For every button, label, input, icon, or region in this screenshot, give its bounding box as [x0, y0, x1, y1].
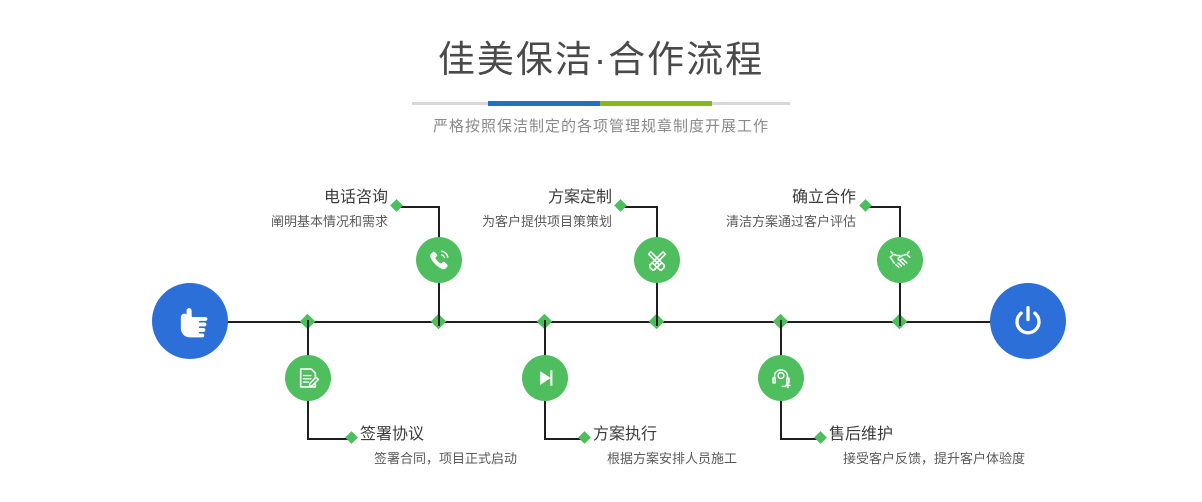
step-title-2: 签署协议 [360, 425, 610, 445]
label-marker-5 [859, 199, 872, 212]
step-node-5[interactable] [877, 237, 923, 283]
step-title-6: 售后维护 [829, 425, 1089, 445]
timeline-start-node[interactable] [152, 283, 228, 359]
pencil-ruler-icon [644, 247, 670, 273]
handshake-icon [887, 247, 913, 273]
step-desc-5: 清洁方案通过客户评估 [620, 213, 856, 231]
step-label-1: 电话咨询 阐明基本情况和需求 [150, 188, 388, 231]
customer-service-add-icon [768, 365, 794, 391]
timeline-axis [160, 321, 1042, 323]
step-title-4: 方案执行 [593, 425, 843, 445]
label-marker-2 [345, 431, 358, 444]
pointing-hand-icon [168, 299, 212, 343]
step-node-4[interactable] [522, 355, 568, 401]
step-title-3: 方案定制 [375, 188, 612, 208]
step-desc-3: 为客户提供项目策策划 [375, 213, 612, 231]
step-node-3[interactable] [634, 237, 680, 283]
connector-horizontal-2 [307, 438, 351, 440]
step-label-2: 签署协议 签署合同，项目正式启动 [360, 425, 610, 468]
process-timeline: 电话咨询 阐明基本情况和需求 签署协议 签署合同，项目正式启动 [0, 0, 1202, 502]
step-title-5: 确立合作 [620, 188, 856, 208]
step-label-4: 方案执行 根据方案安排人员施工 [593, 425, 843, 468]
power-icon [1006, 299, 1050, 343]
step-desc-4: 根据方案安排人员施工 [607, 450, 843, 468]
flow-diagram-page: 佳美保洁·合作流程 严格按照保洁制定的各项管理规章制度开展工作 [0, 0, 1202, 502]
phone-call-icon [426, 247, 452, 273]
play-execute-icon [532, 365, 558, 391]
step-label-6: 售后维护 接受客户反馈，提升客户体验度 [829, 425, 1089, 468]
timeline-end-node[interactable] [990, 283, 1066, 359]
step-desc-6: 接受客户反馈，提升客户体验度 [843, 450, 1089, 468]
step-label-3: 方案定制 为客户提供项目策策划 [375, 188, 612, 231]
step-desc-1: 阐明基本情况和需求 [150, 213, 388, 231]
step-node-1[interactable] [416, 237, 462, 283]
step-title-1: 电话咨询 [150, 188, 388, 208]
step-node-2[interactable] [285, 355, 331, 401]
document-sign-icon [295, 365, 321, 391]
step-label-5: 确立合作 清洁方案通过客户评估 [620, 188, 856, 231]
step-desc-2: 签署合同，项目正式启动 [374, 450, 610, 468]
step-node-6[interactable] [758, 355, 804, 401]
